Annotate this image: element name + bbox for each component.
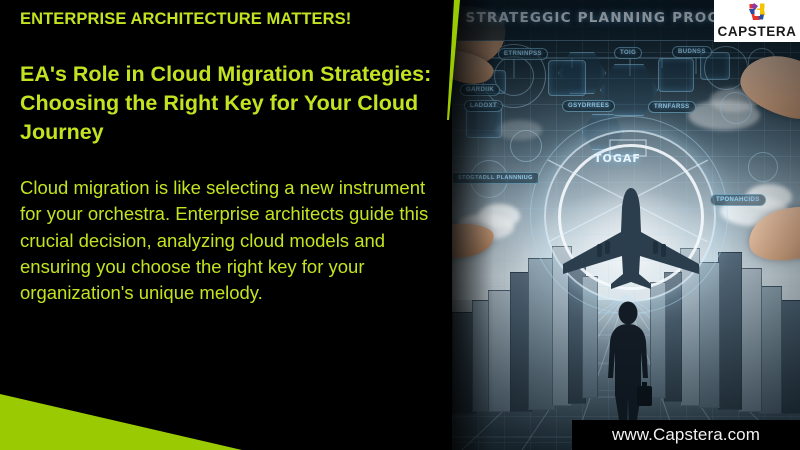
capstera-wordmark: CAPSTERA	[717, 24, 796, 39]
image-vignette	[452, 0, 800, 450]
website-url-bar[interactable]: www.Capstera.com	[572, 420, 800, 450]
green-accent-sliver	[444, 0, 460, 120]
poster-canvas: ENTERPRISE ARCHITECTURE MATTERS! EA's Ro…	[0, 0, 800, 450]
eyebrow-text: ENTERPRISE ARCHITECTURE MATTERS!	[20, 10, 430, 28]
page-title: EA's Role in Cloud Migration Strategies:…	[20, 60, 440, 146]
capstera-logo[interactable]: CAPSTERA	[714, 0, 800, 42]
hero-image-panel: TOGAF	[452, 0, 800, 450]
body-paragraph: Cloud migration is like selecting a new …	[20, 175, 435, 306]
capstera-cube-logo-icon	[745, 2, 769, 23]
left-text-panel: ENTERPRISE ARCHITECTURE MATTERS! EA's Ro…	[0, 0, 452, 450]
website-url-text: www.Capstera.com	[612, 425, 760, 445]
